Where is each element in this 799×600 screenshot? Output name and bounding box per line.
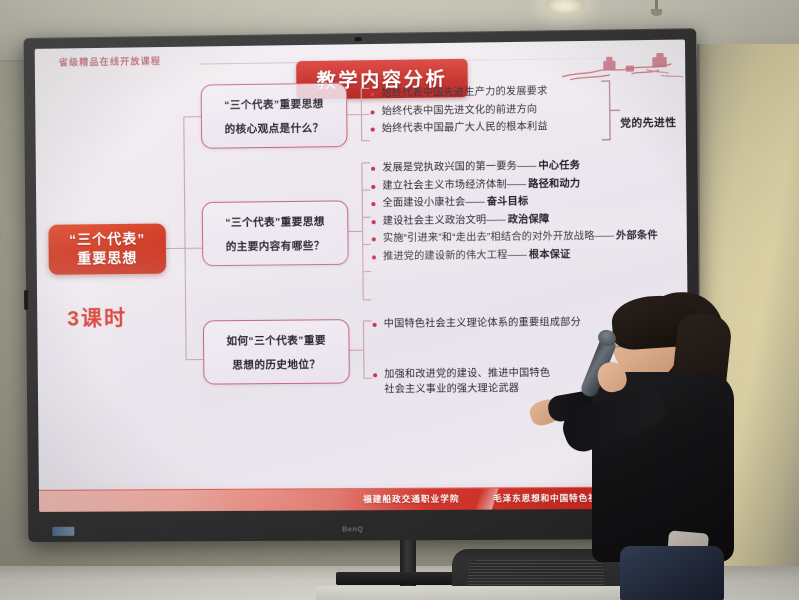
question-1-line1: “三个代表”重要思想 [224,98,324,111]
hours-label: 3课时 [67,302,127,333]
footer-school-label: 福建船政交通职业学院 [363,493,460,506]
classroom-scene: BenQ 省级精品在线开放课程 教学内容分析 [0,0,799,600]
list-item: 始终代表中国最广大人民的根本利益 [370,119,548,137]
list-item: 建设社会主义政治文明—— 政治保障 [371,211,658,230]
list-item: 中国特色社会主义理论体系的重要组成部分 [372,315,591,333]
branch-3-list: 中国特色社会主义理论体系的重要组成部分 加强和改进党的建设、推进中国特色 社会主… [372,315,592,400]
branch-1-list: 始终代表中国先进生产力的发展要求 始终代表中国先进文化的前进方向 始终代表中国最… [369,84,548,139]
list-item: 建立社会主义市场经济体制—— 路径和动力 [370,175,657,194]
root-node-line1: “三个代表” [69,230,145,250]
presenter-jeans [620,546,724,600]
list-item: 始终代表中国先进生产力的发展要求 [369,84,547,102]
question-2-line1: “三个代表”重要思想 [225,216,325,229]
camera-icon [355,37,362,41]
display-logo-icon [52,527,74,536]
list-item: 加强和改进党的建设、推进中国特色 社会主义事业的强大理论武器 [372,365,591,398]
list-item: 发展是党执政兴国的第一要务—— 中心任务 [370,157,657,176]
question-2-line2: 的主要内容有哪些？ [226,240,325,253]
display-side-button[interactable] [24,290,28,310]
question-box-2: “三个代表”重要思想 的主要内容有哪些？ [202,200,349,266]
list-item: 实施“引进来”和“走出去”相结合的对外开放战略—— 外部条件 [371,228,658,247]
list-item: 全面建设小康社会—— 奋斗目标 [370,193,657,212]
branch-1-label: 党的先进性 [620,115,676,131]
ink-landscape-art-icon [558,51,689,89]
branch-2-list: 发展是党执政兴国的第一要务—— 中心任务 建立社会主义市场经济体制—— 路径和动… [370,157,658,266]
root-node: “三个代表” 重要思想 [48,223,166,274]
presenter [576,288,776,600]
sprinkler-icon [650,0,662,20]
question-3-line1: 如何“三个代表”重要 [226,334,326,347]
question-3-line2: 思想的历史地位？ [232,359,320,372]
question-1-line2: 的核心观点是什么？ [225,122,324,135]
root-node-line2: 重要思想 [77,249,137,269]
slide-header-label: 省级精品在线开放课程 [59,54,161,68]
list-item: 始终代表中国先进文化的前进方向 [369,102,547,120]
question-box-1: “三个代表”重要思想 的核心观点是什么？ [201,83,348,149]
list-item: 推进党的建设新的伟大工程—— 根本保证 [371,246,658,265]
question-box-3: 如何“三个代表”重要 思想的历史地位？ [203,319,350,385]
display-brand-label: BenQ [342,526,363,533]
